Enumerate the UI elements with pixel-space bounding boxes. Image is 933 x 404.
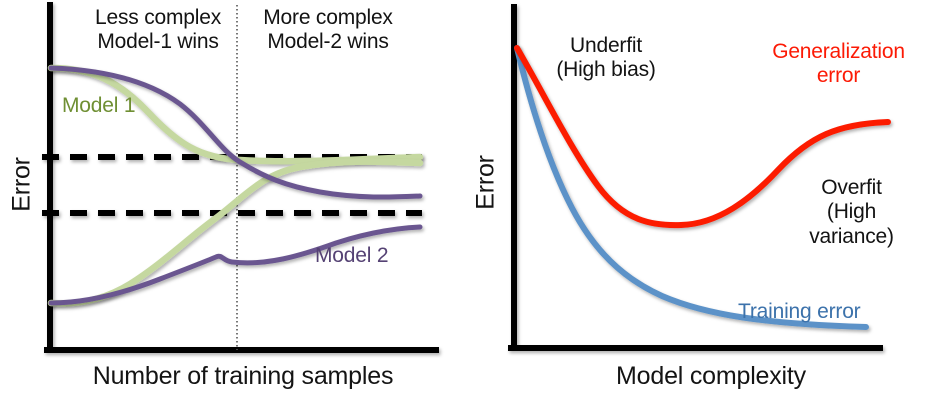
annotation-underfit-line2: (High bias) xyxy=(556,58,655,81)
y-axis-title-left: Error xyxy=(8,135,37,235)
annotation-underfit-line1: Underfit xyxy=(570,34,642,57)
annotation-less-complex-line2: Model-1 wins xyxy=(97,30,218,53)
x-axis-title-left: Number of training samples xyxy=(48,362,438,391)
y-axis-title-right: Error xyxy=(472,133,501,233)
annotation-less-complex: Less complexModel-1 wins xyxy=(78,6,238,55)
annotation-more-complex: More complexModel-2 wins xyxy=(238,6,418,55)
annotation-more-complex-line1: More complex xyxy=(263,6,392,29)
annotation-underfit: Underfit(High bias) xyxy=(536,34,676,83)
x-axis-title-right: Model complexity xyxy=(566,362,856,391)
generalization-label-line1: Generalization xyxy=(772,40,905,63)
annotation-more-complex-line2: Model-2 wins xyxy=(267,30,388,53)
model2-descending-curve xyxy=(51,68,420,197)
annotation-overfit-line1: Overfit xyxy=(821,176,881,199)
annotation-overfit: Overfit(Highvariance) xyxy=(784,176,919,249)
annotation-overfit-line3: variance) xyxy=(809,225,894,248)
annotation-less-complex-line1: Less complex xyxy=(95,6,221,29)
annotation-overfit-line2: (High xyxy=(827,200,876,223)
figure-root: Less complexModel-1 wins More complexMod… xyxy=(0,0,933,404)
learning-curves-plot xyxy=(0,0,466,404)
series-label-model-1: Model 1 xyxy=(62,94,135,118)
series-label-model-2: Model 2 xyxy=(315,244,388,268)
series-label-training-error: Training error xyxy=(738,300,860,324)
learning-curves-panel: Less complexModel-1 wins More complexMod… xyxy=(0,0,466,404)
bias-variance-panel: Underfit(High bias) Generalizationerror … xyxy=(466,0,933,404)
generalization-label-line2: error xyxy=(817,64,860,87)
series-label-generalization-error: Generalizationerror xyxy=(751,40,926,89)
